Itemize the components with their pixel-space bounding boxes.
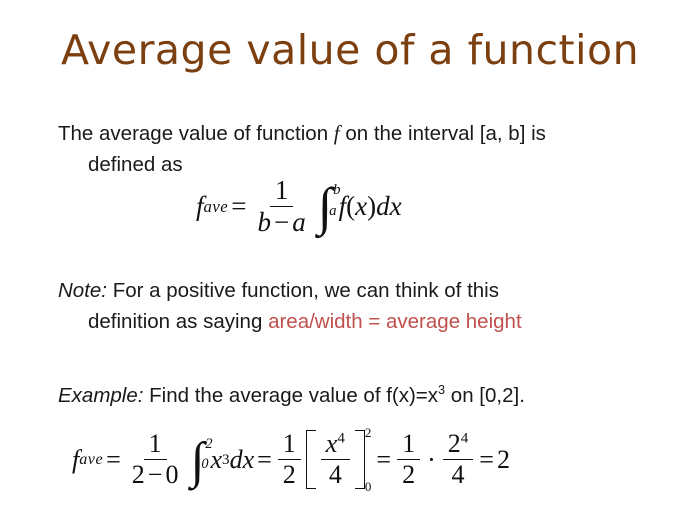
eq2-integral-lower-limit: 0 [201, 457, 208, 471]
eq2-result: 2 [497, 445, 510, 475]
eq2-integral: ∫ 2 0 [190, 440, 208, 480]
eq1-integrand-x: x [355, 191, 367, 222]
eq2-bracket-num-exponent: 4 [337, 430, 345, 446]
eq2-bracket-upper-limit: 2 [365, 426, 372, 439]
eq2-equals-sign-1: = [103, 445, 124, 475]
eq2-fraction-2: 1 2 [278, 430, 301, 489]
eq2-frac4-numerator: 24 [443, 430, 474, 460]
eq2-frac1-den-0: 0 [165, 460, 178, 489]
eq2-frac1-den-minus: − [145, 460, 166, 489]
equation-average-value-definition: fave = 1 b−a ∫ b a f(x)dx [196, 176, 402, 237]
eq2-fraction-4: 24 4 [443, 430, 474, 489]
note-paragraph: Note: For a positive function, we can th… [58, 275, 658, 337]
eq2-frac2-denominator: 2 [278, 460, 301, 489]
eq2-equals-sign-3: = [373, 445, 394, 475]
example-label: Example: [58, 384, 143, 407]
eq2-integral-upper-limit: 2 [205, 437, 212, 451]
eq1-den-a: a [292, 207, 306, 237]
eq1-integrand-close-paren: ) [367, 191, 376, 222]
eq1-fraction: 1 b−a [252, 176, 310, 237]
note-second-line: definition as saying area/width = averag… [58, 306, 658, 337]
eq2-frac4-num-exponent: 4 [461, 430, 469, 446]
eq2-bracket-denominator: 4 [324, 460, 347, 489]
eq1-f-symbol: f [196, 191, 204, 222]
eq1-dx-d: d [376, 191, 390, 222]
definition-paragraph: The average value of function f on the i… [58, 118, 658, 180]
eq2-bracket-numerator: x4 [321, 430, 350, 460]
note-label: Note: [58, 279, 107, 302]
eq1-den-minus: − [271, 207, 292, 237]
note-text-line1: For a positive function, we can think of… [107, 279, 499, 302]
eq1-fraction-denominator: b−a [252, 207, 310, 237]
eq2-equals-sign-4: = [476, 445, 497, 475]
eq2-frac2-numerator: 1 [278, 430, 301, 460]
note-text-line2-accent: area/width = average height [268, 310, 522, 333]
eq2-f-symbol: f [72, 445, 79, 475]
example-text-after-exponent: on [0,2]. [445, 384, 525, 407]
eq2-fraction-1: 1 2−0 [127, 430, 184, 489]
eq1-fraction-numerator: 1 [270, 176, 294, 207]
page-title: Average value of a function [0, 26, 700, 74]
eq2-frac4-num-base: 2 [448, 429, 461, 458]
eq2-bracket-fraction: x4 4 [321, 430, 350, 489]
eq2-frac1-denominator: 2−0 [127, 460, 184, 489]
example-paragraph: Example: Find the average value of f(x)=… [58, 380, 658, 411]
eq2-frac3-denominator: 2 [397, 460, 420, 489]
eq2-bracket-lower-limit: 0 [365, 480, 372, 493]
eq2-frac3-numerator: 1 [397, 430, 420, 460]
eq2-bracket-limits: 2 0 [365, 430, 372, 489]
definition-text-before: The average value of function [58, 122, 334, 145]
eq1-equals-sign: = [228, 191, 249, 222]
equation-worked-example: fave = 1 2−0 ∫ 2 0 x3dx = 1 2 x4 4 [72, 430, 510, 489]
eq1-integral-lower-limit: a [329, 204, 336, 219]
definition-text-after: on the interval [a, b] is [340, 122, 546, 145]
eq1-den-b: b [257, 207, 271, 237]
bracket-left-icon [306, 430, 316, 489]
eq2-multiplication-dot: · [423, 445, 440, 475]
eq2-frac1-den-2: 2 [132, 460, 145, 489]
bracket-right-icon [355, 430, 365, 489]
note-text-line2-plain: definition as saying [88, 310, 268, 333]
slide-canvas: Average value of a function The average … [0, 0, 700, 525]
eq2-dx-x: x [243, 445, 255, 475]
eq2-frac4-denominator: 4 [447, 460, 470, 489]
eq2-dx-d: d [230, 445, 243, 475]
eq1-integral: ∫ b a [318, 186, 337, 227]
eq1-integrand-open-paren: ( [346, 191, 355, 222]
eq2-fraction-3: 1 2 [397, 430, 420, 489]
example-text-before-exponent: Find the average value of f(x)=x [143, 384, 438, 407]
eq2-evaluation-bracket: x4 4 2 0 [306, 430, 372, 489]
eq1-dx-x: x [390, 191, 402, 222]
eq1-integral-upper-limit: b [333, 183, 340, 198]
eq2-equals-sign-2: = [254, 445, 275, 475]
eq2-bracket-num-x: x [326, 429, 338, 458]
eq2-frac1-numerator: 1 [144, 430, 167, 460]
